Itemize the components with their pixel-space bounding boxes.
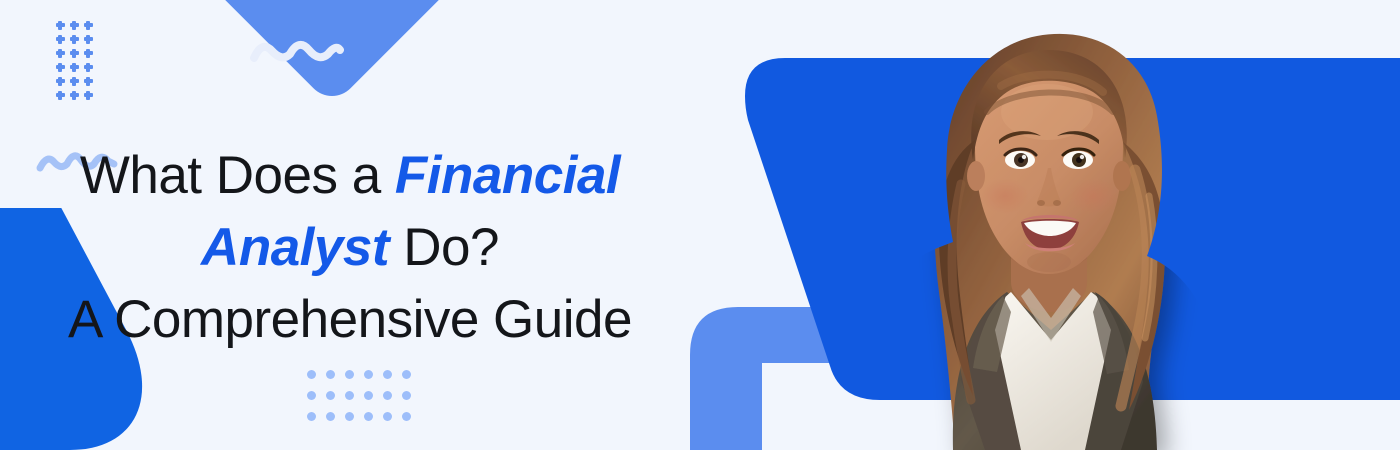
page-title: What Does a Financial Analyst Do? A Comp… [0, 140, 700, 356]
dot-icon [383, 370, 392, 379]
plus-icon [55, 48, 69, 62]
plus-icon [83, 48, 97, 62]
hero-artwork [690, 0, 1400, 450]
hero-banner: What Does a Financial Analyst Do? A Comp… [0, 0, 1400, 450]
dot-icon [364, 391, 373, 400]
dot-icon [307, 412, 316, 421]
dot-icon [345, 391, 354, 400]
plus-icon [83, 34, 97, 48]
plus-icon [69, 20, 83, 34]
dot-icon [326, 370, 335, 379]
dot-icon [345, 370, 354, 379]
plus-icon [69, 48, 83, 62]
plus-icon [69, 76, 83, 90]
plus-icon [83, 76, 97, 90]
dot-icon [402, 391, 411, 400]
headline-text-plain: Do? [389, 218, 499, 277]
plus-icon [83, 62, 97, 76]
plus-icon [69, 90, 83, 104]
plus-icon [55, 76, 69, 90]
dot-icon [345, 412, 354, 421]
plus-icon [55, 34, 69, 48]
headline-text-accent: Financial [395, 146, 620, 205]
plus-icon [69, 34, 83, 48]
dot-icon [364, 412, 373, 421]
plus-icon [69, 62, 83, 76]
headline-line-2: Analyst Do? [0, 212, 700, 284]
headline-text-plain: What Does a [80, 146, 395, 205]
dot-icon [326, 391, 335, 400]
wave-squiggle-top-icon [248, 36, 348, 72]
plus-grid [55, 20, 97, 104]
headline-line-1: What Does a Financial [0, 140, 700, 212]
dot-icon [402, 370, 411, 379]
dot-icon [326, 412, 335, 421]
plus-icon [83, 90, 97, 104]
dot-icon [383, 391, 392, 400]
dot-icon [383, 412, 392, 421]
dot-grid [307, 370, 421, 433]
plus-icon [55, 62, 69, 76]
plus-icon [55, 20, 69, 34]
headline-text-accent: Analyst [201, 218, 389, 277]
dot-icon [402, 412, 411, 421]
plus-icon [55, 90, 69, 104]
dot-icon [364, 370, 373, 379]
dot-icon [307, 370, 316, 379]
smiling-businesswoman-photo [835, 0, 1255, 450]
plus-icon [83, 20, 97, 34]
headline-line-3: A Comprehensive Guide [0, 284, 700, 356]
dot-icon [307, 391, 316, 400]
